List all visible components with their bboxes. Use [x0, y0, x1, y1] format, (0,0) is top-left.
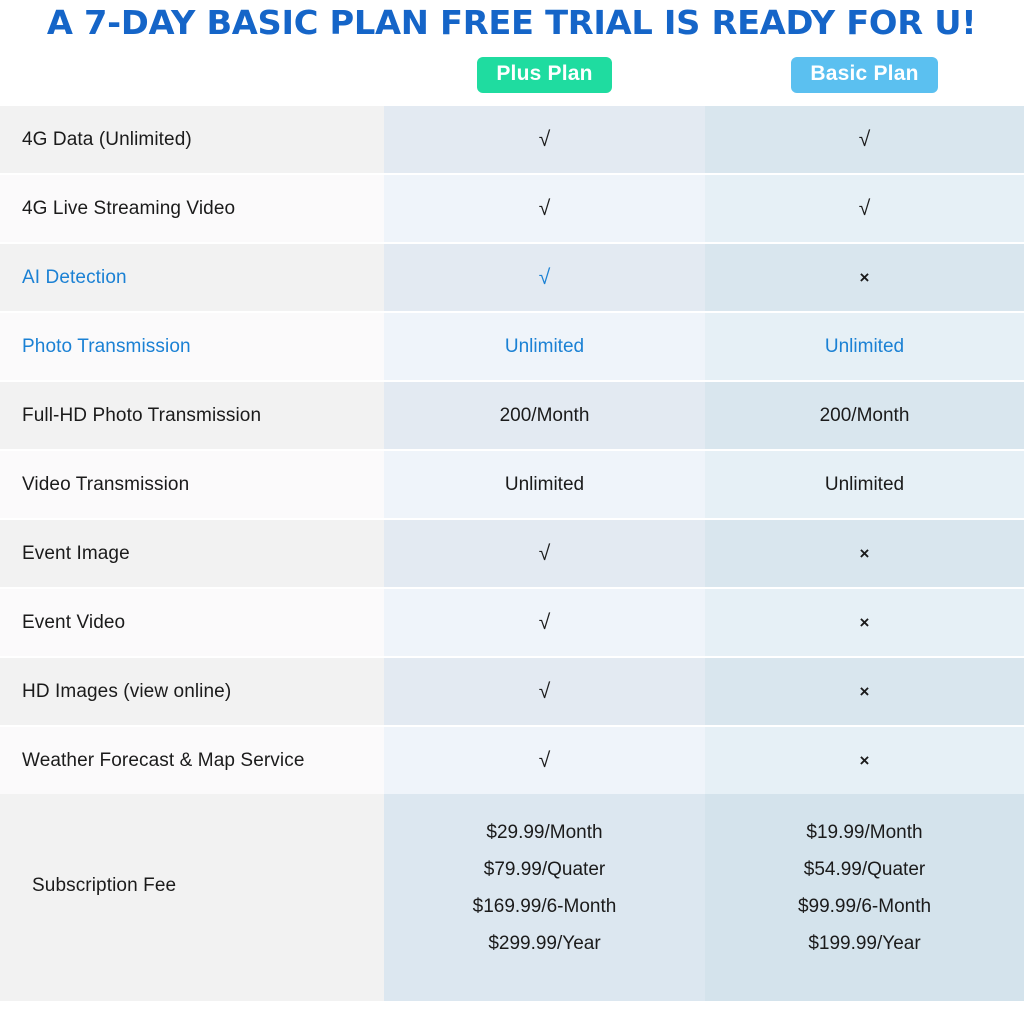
check-icon: √ [539, 681, 551, 702]
check-icon: √ [539, 750, 551, 771]
plus-plan-header-cell: Plus Plan [384, 57, 705, 93]
plus-plan-value-cell: √ [384, 106, 705, 173]
check-icon: √ [539, 543, 551, 564]
check-icon: √ [539, 612, 551, 633]
promo-banner: A 7-DAY BASIC PLAN FREE TRIAL IS READY F… [0, 0, 1024, 44]
cross-icon: × [860, 614, 870, 631]
check-icon: √ [539, 267, 551, 288]
fee-row-tail [0, 978, 1024, 1001]
feature-label: Full-HD Photo Transmission [0, 382, 384, 449]
feature-label: Event Video [0, 589, 384, 656]
check-icon: √ [859, 198, 871, 219]
table-row: HD Images (view online)√× [0, 658, 1024, 727]
plus-plan-value-cell: √ [384, 520, 705, 587]
basic-plan-value-cell: × [705, 589, 1024, 656]
fee-tail-basic [705, 978, 1024, 1001]
check-icon: √ [539, 198, 551, 219]
basic-plan-price: $199.99/Year [808, 925, 920, 962]
fee-tail-feature [0, 978, 384, 1001]
plus-plan-price: $79.99/Quater [484, 851, 605, 888]
plus-plan-value-cell: √ [384, 244, 705, 311]
basic-plan-value-cell: 200/Month [705, 382, 1024, 449]
basic-plan-value-cell: × [705, 244, 1024, 311]
plus-plan-price: $169.99/6-Month [473, 888, 617, 925]
feature-label: Photo Transmission [0, 313, 384, 380]
basic-plan-value-cell: √ [705, 175, 1024, 242]
plus-plan-value-cell: √ [384, 658, 705, 725]
basic-plan-value-cell: √ [705, 106, 1024, 173]
plus-plan-value-cell: 200/Month [384, 382, 705, 449]
feature-label: AI Detection [0, 244, 384, 311]
plan-comparison-table: 4G Data (Unlimited)√√4G Live Streaming V… [0, 106, 1024, 794]
basic-plan-value-cell: × [705, 658, 1024, 725]
plan-header-row: Plus Plan Basic Plan [0, 44, 1024, 106]
basic-plan-value: Unlimited [825, 336, 904, 358]
check-icon: √ [539, 129, 551, 150]
basic-plan-value: Unlimited [825, 474, 904, 496]
cross-icon: × [860, 752, 870, 769]
basic-plan-price: $19.99/Month [806, 814, 922, 851]
plus-plan-price: $29.99/Month [486, 814, 602, 851]
plus-plan-value-cell: √ [384, 589, 705, 656]
basic-plan-value-cell: Unlimited [705, 313, 1024, 380]
plus-plan-price-list: $29.99/Month$79.99/Quater$169.99/6-Month… [384, 794, 705, 978]
feature-label: HD Images (view online) [0, 658, 384, 725]
plus-plan-badge[interactable]: Plus Plan [477, 57, 611, 93]
cross-icon: × [860, 545, 870, 562]
plus-plan-value-cell: √ [384, 727, 705, 794]
cross-icon: × [860, 269, 870, 286]
feature-label: Video Transmission [0, 451, 384, 518]
subscription-fee-row: Subscription Fee $29.99/Month$79.99/Quat… [0, 794, 1024, 978]
basic-plan-price: $54.99/Quater [804, 851, 925, 888]
feature-label: Weather Forecast & Map Service [0, 727, 384, 794]
plus-plan-value: Unlimited [505, 474, 584, 496]
table-row: Weather Forecast & Map Service√× [0, 727, 1024, 794]
plus-plan-value: Unlimited [505, 336, 584, 358]
plus-plan-value-cell: Unlimited [384, 313, 705, 380]
basic-plan-value: 200/Month [820, 405, 910, 427]
plus-plan-price: $299.99/Year [488, 925, 600, 962]
subscription-fee-label: Subscription Fee [0, 794, 384, 978]
feature-label: 4G Data (Unlimited) [0, 106, 384, 173]
table-row: 4G Live Streaming Video√√ [0, 175, 1024, 244]
plus-plan-value-cell: √ [384, 175, 705, 242]
basic-plan-value-cell: × [705, 520, 1024, 587]
basic-plan-price: $99.99/6-Month [798, 888, 931, 925]
table-row: Event Image√× [0, 520, 1024, 589]
plus-plan-value-cell: Unlimited [384, 451, 705, 518]
feature-label: 4G Live Streaming Video [0, 175, 384, 242]
basic-plan-value-cell: × [705, 727, 1024, 794]
table-row: Event Video√× [0, 589, 1024, 658]
page-title: A 7-DAY BASIC PLAN FREE TRIAL IS READY F… [47, 6, 976, 39]
table-row: Video TransmissionUnlimitedUnlimited [0, 451, 1024, 520]
basic-plan-badge[interactable]: Basic Plan [791, 57, 937, 93]
table-row: 4G Data (Unlimited)√√ [0, 106, 1024, 175]
basic-plan-header-cell: Basic Plan [705, 57, 1024, 93]
basic-plan-value-cell: Unlimited [705, 451, 1024, 518]
table-row: Full-HD Photo Transmission200/Month200/M… [0, 382, 1024, 451]
feature-label: Event Image [0, 520, 384, 587]
bottom-strip [0, 1001, 1024, 1010]
table-row: AI Detection√× [0, 244, 1024, 313]
basic-plan-price-list: $19.99/Month$54.99/Quater$99.99/6-Month$… [705, 794, 1024, 978]
fee-tail-plus [384, 978, 705, 1001]
cross-icon: × [860, 683, 870, 700]
plus-plan-value: 200/Month [500, 405, 590, 427]
check-icon: √ [859, 129, 871, 150]
table-row: Photo TransmissionUnlimitedUnlimited [0, 313, 1024, 382]
